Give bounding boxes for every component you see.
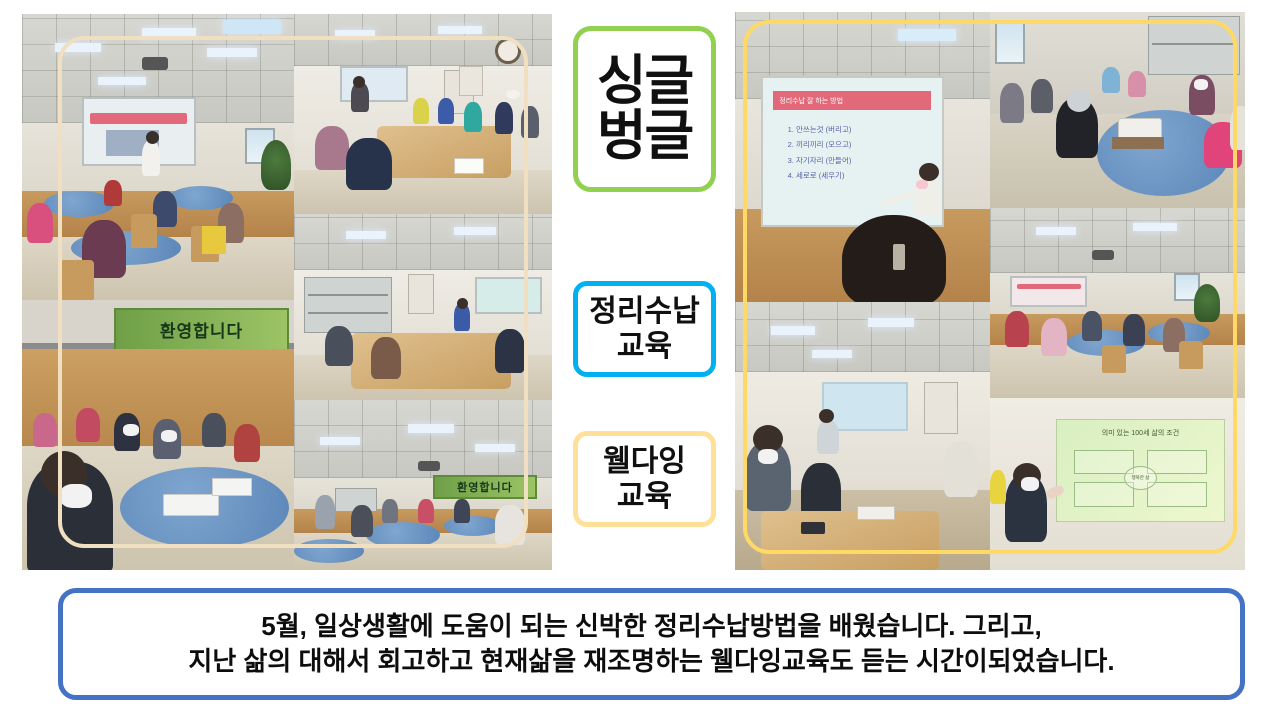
hall-banner-text: 환영합니다	[457, 479, 513, 495]
photo-seated-audience-room	[990, 208, 1245, 398]
right-photo-collage: 정리수납 잘 하는 방법 1. 안쓰는것 (버리고) 2. 끼리끼리 (모으고)…	[735, 12, 1245, 570]
badge-organizing-class: 정리수납 교육	[573, 281, 716, 377]
photo-welldying-green-slide: 의미 있는 100세 삶의 조건 행복한 삶	[990, 398, 1245, 570]
slide-title-welldying: 의미 있는 100세 삶의 조건	[1057, 428, 1223, 438]
slide-item-2: 2. 끼리끼리 (모으고)	[788, 137, 852, 152]
photo-round-tables-banner-room: 환영합니다	[294, 400, 552, 570]
slide-item-4: 4. 세로로 (세우기)	[788, 168, 852, 183]
projection-screen-welldying: 의미 있는 100세 삶의 조건 행복한 삶	[1056, 419, 1224, 522]
badge-welldying-class: 웰다잉 교육	[573, 431, 716, 527]
caption-box: 5월, 일상생활에 도움이 되는 신박한 정리수납방법을 배웠습니다. 그리고,…	[58, 588, 1245, 700]
slide-item-1: 1. 안쓰는것 (버리고)	[788, 122, 852, 137]
badge-program-title: 싱글 벙글	[573, 26, 716, 192]
photo-welcome-banner-hall: 환영합니다	[22, 300, 294, 570]
slide-item-3: 3. 자기자리 (만들어)	[788, 153, 852, 168]
photo-long-table-group-standing	[294, 14, 552, 214]
badge-title-line1: 싱글	[597, 54, 692, 109]
photo-classroom-lecture-projector	[22, 14, 294, 300]
badge-well-line2: 교육	[617, 479, 672, 514]
badge-well-line1: 웰다잉	[603, 444, 686, 479]
photo-collage-poster: 환영합니다	[0, 0, 1280, 720]
badge-title-line2: 벙글	[597, 109, 692, 164]
photo-blue-round-table-activity	[990, 12, 1245, 208]
welcome-banner: 환영합니다	[114, 308, 288, 351]
photo-meeting-room-long-table	[294, 214, 552, 400]
welcome-banner-text: 환영합니다	[160, 317, 243, 342]
badge-org-line1: 정리수납	[589, 294, 699, 329]
caption-line-1: 5월, 일상생활에 도움이 되는 신박한 정리수납방법을 배웠습니다. 그리고,	[261, 609, 1041, 644]
caption-line-2: 지난 삶의 대해서 회고하고 현재삶을 재조명하는 웰다잉교육도 듣는 시간이되…	[188, 644, 1114, 679]
badge-org-line2: 교육	[617, 329, 672, 364]
photo-welldying-lecture-room	[735, 302, 990, 570]
left-photo-collage: 환영합니다	[22, 14, 552, 570]
photo-organizing-lecture-slide: 정리수납 잘 하는 방법 1. 안쓰는것 (버리고) 2. 끼리끼리 (모으고)…	[735, 12, 990, 302]
slide-title-organizing: 정리수납 잘 하는 방법	[773, 91, 931, 110]
